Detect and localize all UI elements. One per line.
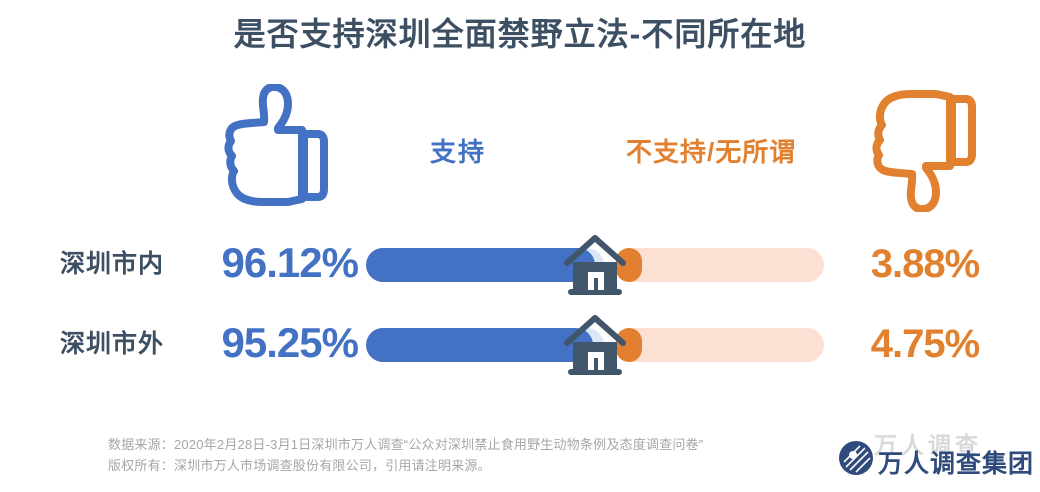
circle-logo-icon [838,440,874,476]
infographic-canvas: 是否支持深圳全面禁野立法-不同所在地 支持 不支持/无所谓 深圳市内 96.12… [0,0,1040,492]
footer-line-copyright: 版权所有：深圳市万人市场调查股份有限公司，引用请注明来源。 [108,455,828,476]
legend-item-oppose: 不支持/无所谓 [626,132,796,169]
house-icon [562,312,628,378]
brand-logo: 万人调查 万人调查集团 [836,424,1032,486]
data-row: 深圳市内 96.12% 3.88% [0,234,1040,296]
support-bar-fill [366,328,593,362]
support-bar-fill [366,248,595,282]
oppose-bar-track [616,248,824,282]
row-support-value: 96.12% [186,234,358,292]
row-oppose-value: 3.88% [840,236,1010,292]
page-title: 是否支持深圳全面禁野立法-不同所在地 [0,12,1040,56]
legend-label-oppose: 不支持/无所谓 [626,137,796,167]
house-icon [562,232,628,298]
row-bar-area [366,248,824,282]
logo-name-text: 万人调查集团 [878,444,1034,480]
data-row: 深圳市外 95.25% 4.75% [0,314,1040,376]
oppose-bar-track [616,328,824,362]
legend-item-support: 支持 [430,132,486,169]
row-label: 深圳市内 [60,246,192,282]
footer-line-source: 数据来源：2020年2月28日-3月1日深圳市万人调查“公众对深圳禁止食用野生动… [108,434,828,455]
legend-label-support: 支持 [430,137,486,167]
footer-source-note: 数据来源：2020年2月28日-3月1日深圳市万人调查“公众对深圳禁止食用野生动… [108,434,828,476]
row-label: 深圳市外 [60,326,192,362]
thumbs-up-icon [216,84,338,212]
row-oppose-value: 4.75% [840,316,1010,372]
row-support-value: 95.25% [186,314,358,372]
row-bar-area [366,328,824,362]
thumbs-down-icon [864,84,986,212]
